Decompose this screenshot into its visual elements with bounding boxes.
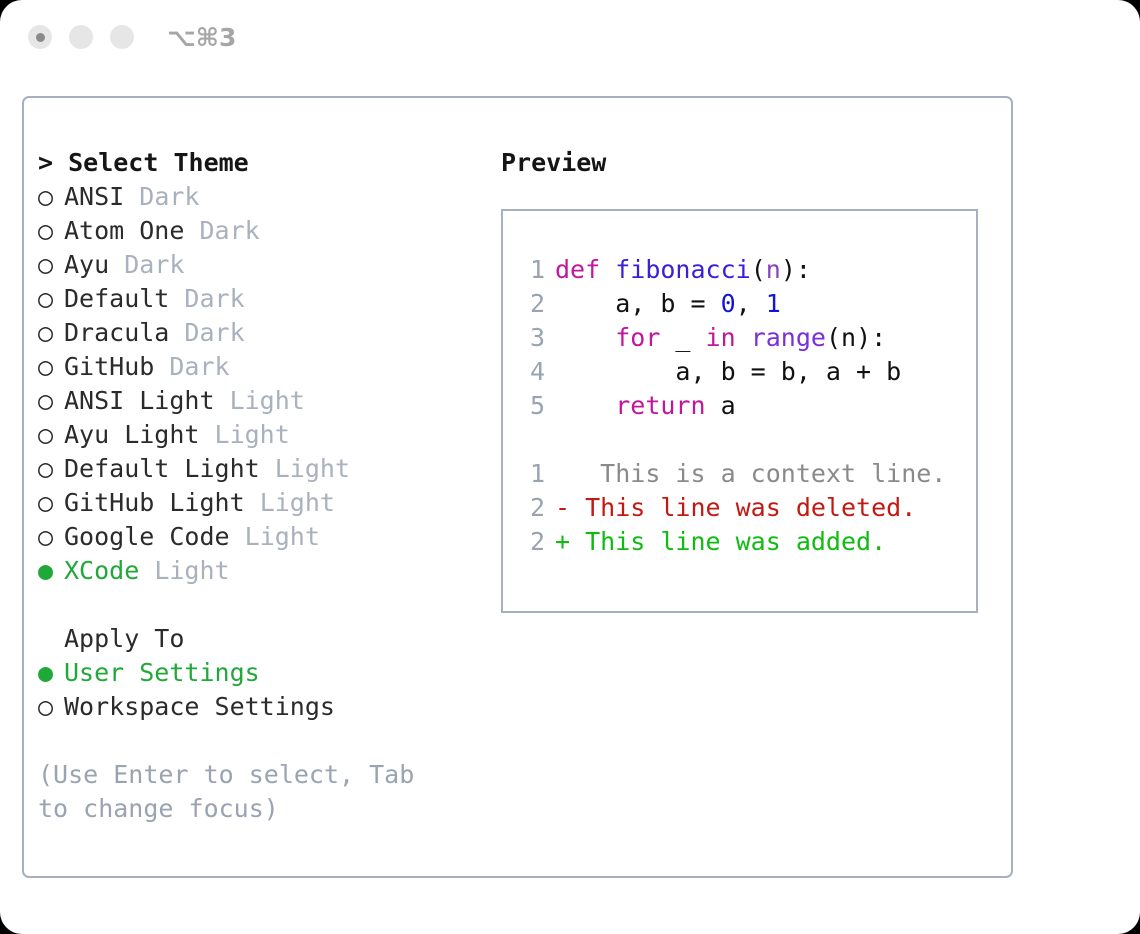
code-token-kw: in [706, 323, 736, 352]
code-line: 5 return a [517, 389, 970, 423]
line-number: 2 [517, 491, 545, 525]
radio-unselected-icon: ○ [38, 520, 64, 554]
theme-item-gap [124, 180, 139, 214]
code-token-plain [555, 323, 615, 352]
theme-item-gap [199, 418, 214, 452]
select-theme-header: > Select Theme [38, 146, 478, 180]
theme-item-ayu-light[interactable]: ○Ayu Light Light [38, 418, 478, 452]
radio-unselected-icon: ○ [38, 316, 64, 350]
theme-item-kind: Dark [169, 350, 229, 384]
window-dot-second-icon[interactable] [69, 25, 93, 49]
radio-unselected-icon: ○ [38, 418, 64, 452]
diff-text: This line was deleted. [570, 491, 916, 525]
theme-item-gap [215, 384, 230, 418]
apply-to-header-row: ○Apply To [38, 622, 478, 656]
code-token-param: n [766, 255, 781, 284]
preview-code-area: 1def fibonacci(n):2 a, b = 0, 13 for _ i… [517, 253, 970, 559]
theme-item-gap [245, 486, 260, 520]
line-number: 5 [517, 389, 545, 423]
theme-selector-pane: > Select Theme ○ANSI Dark○Atom One Dark○… [38, 146, 478, 826]
diff-text: This line was added. [570, 525, 886, 559]
radio-selected-icon: ● [38, 656, 64, 690]
theme-item-name: Google Code [64, 520, 230, 554]
theme-item-default-light[interactable]: ○Default Light Light [38, 452, 478, 486]
theme-item-kind: Light [275, 452, 350, 486]
theme-item-atom-one[interactable]: ○Atom One Dark [38, 214, 478, 248]
apply-to-option-label: Workspace Settings [64, 690, 335, 724]
preview-header: Preview [501, 146, 1001, 180]
diff-line: 1 This is a context line. [517, 457, 970, 491]
theme-item-kind: Dark [199, 214, 259, 248]
theme-item-xcode[interactable]: ●XCode Light [38, 554, 478, 588]
code-token-plain [736, 323, 751, 352]
window-controls [28, 25, 134, 49]
theme-item-name: Atom One [64, 214, 184, 248]
keyboard-hint: (Use Enter to select, Tab to change focu… [38, 758, 448, 826]
radio-unselected-icon: ○ [38, 486, 64, 520]
diff-text: This is a context line. [570, 457, 946, 491]
theme-item-name: Dracula [64, 316, 169, 350]
theme-item-kind: Dark [184, 316, 244, 350]
line-number: 1 [517, 457, 545, 491]
code-text: for _ in range(n): [555, 321, 886, 355]
code-token-plain [555, 391, 615, 420]
code-text: a, b = b, a + b [555, 355, 901, 389]
theme-item-name: GitHub Light [64, 486, 245, 520]
line-number: 2 [517, 287, 545, 321]
code-token-kw: def [555, 255, 615, 284]
code-token-num: 0 [721, 289, 736, 318]
apply-to-option-label: User Settings [64, 656, 260, 690]
theme-item-kind: Dark [139, 180, 199, 214]
theme-item-google-code[interactable]: ○Google Code Light [38, 520, 478, 554]
code-token-plain: (n): [826, 323, 886, 352]
diff-line: 2- This line was deleted. [517, 491, 970, 525]
code-token-plain: ): [781, 255, 811, 284]
theme-item-gap [169, 282, 184, 316]
theme-item-dracula[interactable]: ○Dracula Dark [38, 316, 478, 350]
code-token-num: 1 [766, 289, 781, 318]
code-diff-separator [517, 423, 970, 457]
radio-unselected-icon: ○ [38, 214, 64, 248]
code-token-plain: , [736, 289, 766, 318]
code-text: def fibonacci(n): [555, 253, 811, 287]
apply-to-header-marker-icon: ○ [38, 622, 64, 656]
diff-sample: 1 This is a context line.2- This line wa… [517, 457, 970, 559]
theme-item-name: Default Light [64, 452, 260, 486]
apply-to-option-user-settings[interactable]: ●User Settings [38, 656, 478, 690]
window-dot-active-inner-icon [36, 33, 45, 42]
line-number: 3 [517, 321, 545, 355]
theme-item-ansi-light[interactable]: ○ANSI Light Light [38, 384, 478, 418]
theme-item-gap [230, 520, 245, 554]
theme-item-gap [139, 554, 154, 588]
apply-to-header: Apply To [64, 622, 184, 656]
diff-line: 2+ This line was added. [517, 525, 970, 559]
line-number: 2 [517, 525, 545, 559]
diff-sign: + [555, 525, 570, 559]
code-line: 1def fibonacci(n): [517, 253, 970, 287]
theme-item-gap [169, 316, 184, 350]
theme-item-kind: Dark [124, 248, 184, 282]
theme-item-name: ANSI Light [64, 384, 215, 418]
code-token-fn: fibonacci [615, 255, 750, 284]
diff-sign [555, 457, 570, 491]
code-token-call: range [751, 323, 826, 352]
radio-unselected-icon: ○ [38, 690, 64, 724]
code-text: a, b = 0, 1 [555, 287, 781, 321]
theme-list: ○ANSI Dark○Atom One Dark○Ayu Dark○Defaul… [38, 180, 478, 588]
code-token-kw: for [615, 323, 660, 352]
theme-item-gap [184, 214, 199, 248]
theme-item-name: ANSI [64, 180, 124, 214]
theme-item-name: XCode [64, 554, 139, 588]
main-card: > Select Theme ○ANSI Dark○Atom One Dark○… [22, 96, 1013, 878]
theme-item-kind: Dark [184, 282, 244, 316]
window-dot-active-icon[interactable] [28, 25, 52, 49]
line-number: 4 [517, 355, 545, 389]
theme-item-kind: Light [230, 384, 305, 418]
code-sample: 1def fibonacci(n):2 a, b = 0, 13 for _ i… [517, 253, 970, 423]
theme-item-kind: Light [154, 554, 229, 588]
preview-box: 1def fibonacci(n):2 a, b = 0, 13 for _ i… [501, 209, 978, 613]
theme-item-name: Ayu [64, 248, 109, 282]
line-number: 1 [517, 253, 545, 287]
app-window: ⌥⌘3 > Select Theme ○ANSI Dark○Atom One D… [0, 0, 1140, 934]
theme-item-name: Ayu Light [64, 418, 199, 452]
title-bar: ⌥⌘3 [0, 0, 1140, 78]
radio-unselected-icon: ○ [38, 384, 64, 418]
theme-item-name: GitHub [64, 350, 154, 384]
window-dot-third-icon[interactable] [110, 25, 134, 49]
radio-selected-icon: ● [38, 554, 64, 588]
code-token-plain: a [706, 391, 736, 420]
code-token-plain: a, b = [555, 289, 721, 318]
theme-item-kind: Light [215, 418, 290, 452]
code-token-plain: a, b = b, a + b [555, 357, 901, 386]
theme-item-ayu[interactable]: ○Ayu Dark [38, 248, 478, 282]
code-token-plain: ( [751, 255, 766, 284]
radio-unselected-icon: ○ [38, 248, 64, 282]
theme-item-ansi[interactable]: ○ANSI Dark [38, 180, 478, 214]
apply-to-option-workspace-settings[interactable]: ○Workspace Settings [38, 690, 478, 724]
theme-item-name: Default [64, 282, 169, 316]
code-token-plain: _ [660, 323, 705, 352]
keyboard-shortcut-label: ⌥⌘3 [167, 22, 236, 54]
diff-sign: - [555, 491, 570, 525]
radio-unselected-icon: ○ [38, 350, 64, 384]
theme-item-github[interactable]: ○GitHub Dark [38, 350, 478, 384]
apply-to-list: ●User Settings○Workspace Settings [38, 656, 478, 724]
code-line: 3 for _ in range(n): [517, 321, 970, 355]
code-text: return a [555, 389, 736, 423]
theme-item-gap [260, 452, 275, 486]
theme-item-gap [109, 248, 124, 282]
code-line: 2 a, b = 0, 1 [517, 287, 970, 321]
code-token-kw: return [615, 391, 705, 420]
theme-item-github-light[interactable]: ○GitHub Light Light [38, 486, 478, 520]
theme-item-default[interactable]: ○Default Dark [38, 282, 478, 316]
code-line: 4 a, b = b, a + b [517, 355, 970, 389]
theme-item-kind: Light [245, 520, 320, 554]
preview-pane: Preview 1def fibonacci(n):2 a, b = 0, 13… [501, 146, 1001, 613]
theme-item-gap [154, 350, 169, 384]
radio-unselected-icon: ○ [38, 282, 64, 316]
theme-item-kind: Light [260, 486, 335, 520]
radio-unselected-icon: ○ [38, 180, 64, 214]
radio-unselected-icon: ○ [38, 452, 64, 486]
